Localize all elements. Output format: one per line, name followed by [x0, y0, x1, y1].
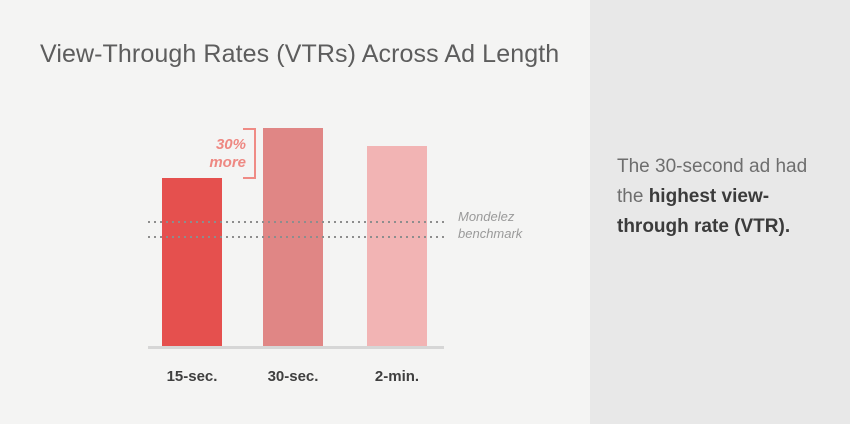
- benchmark-line-upper: [148, 221, 444, 223]
- benchmark-label: Mondelez benchmark: [458, 208, 522, 242]
- benchmark-label-line1: Mondelez: [458, 208, 522, 225]
- growth-annotation-word: more: [200, 154, 246, 172]
- bar-2-min: [367, 146, 427, 347]
- infographic-canvas: View-Through Rates (VTRs) Across Ad Leng…: [0, 0, 850, 424]
- callout-text: The 30-second ad had the highest view-th…: [617, 152, 827, 242]
- bar-15-sec: [162, 178, 222, 347]
- benchmark-line-lower: [148, 236, 444, 238]
- bar-chart-plot-area: Mondelez benchmark 30% more 15-sec. 30-s…: [0, 0, 590, 424]
- growth-annotation: 30% more: [200, 136, 246, 172]
- x-axis-label-2-min: 2-min.: [347, 368, 447, 385]
- growth-annotation-bracket: [243, 128, 256, 179]
- x-axis-label-15-sec: 15-sec.: [142, 368, 242, 385]
- growth-annotation-percent: 30%: [200, 136, 246, 154]
- benchmark-label-line2: benchmark: [458, 225, 522, 242]
- axis-baseline: [148, 346, 444, 349]
- x-axis-label-30-sec: 30-sec.: [243, 368, 343, 385]
